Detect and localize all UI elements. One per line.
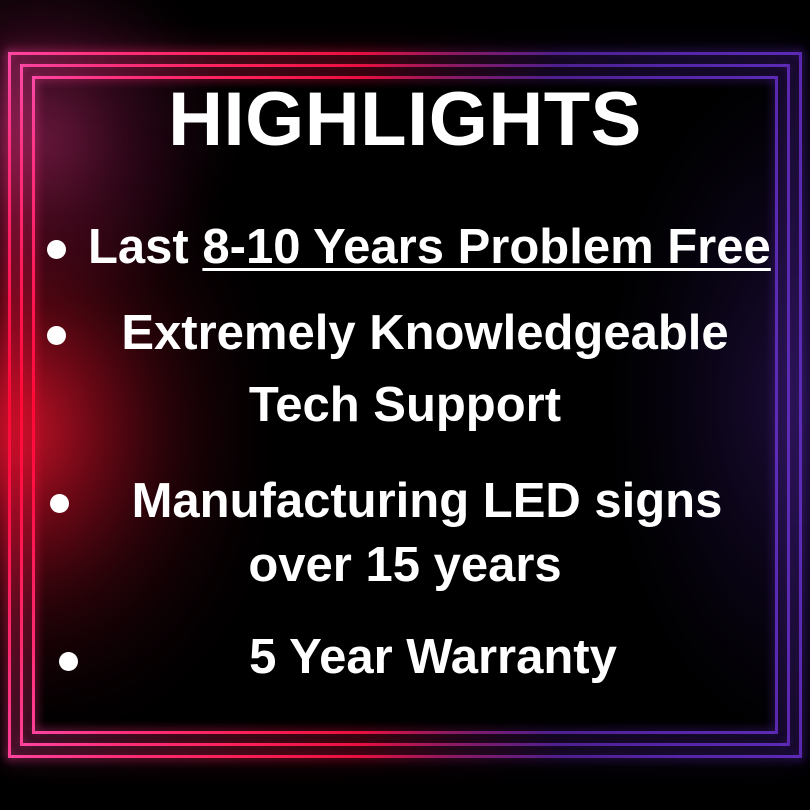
list-item: 5 Year Warranty xyxy=(0,622,810,696)
page-title: HIGHLIGHTS xyxy=(0,82,810,158)
list-item: Manufacturing LED signs over 15 years xyxy=(0,466,810,540)
list-item-text: Extremely Knowledgeable xyxy=(0,306,810,361)
list-item: Last 8-10 Years Problem Free xyxy=(0,212,810,286)
card-content: HIGHLIGHTS Last 8-10 Years Problem Free … xyxy=(0,0,810,810)
list-item: Extremely Knowledgeable Tech Support xyxy=(0,298,810,372)
bullet-dot-icon xyxy=(47,240,66,259)
list-item-text: 5 Year Warranty xyxy=(0,630,810,685)
list-item-text: Last 8-10 Years Problem Free xyxy=(88,220,771,275)
highlights-card: HIGHLIGHTS Last 8-10 Years Problem Free … xyxy=(0,0,810,810)
list-item-lead: Last xyxy=(88,220,202,274)
list-item-text: Manufacturing LED signs xyxy=(0,474,810,529)
list-item-continuation: Tech Support xyxy=(0,378,810,433)
list-item-underlined: 8-10 Years Problem Free xyxy=(202,220,770,274)
list-item-continuation: over 15 years xyxy=(0,538,810,593)
